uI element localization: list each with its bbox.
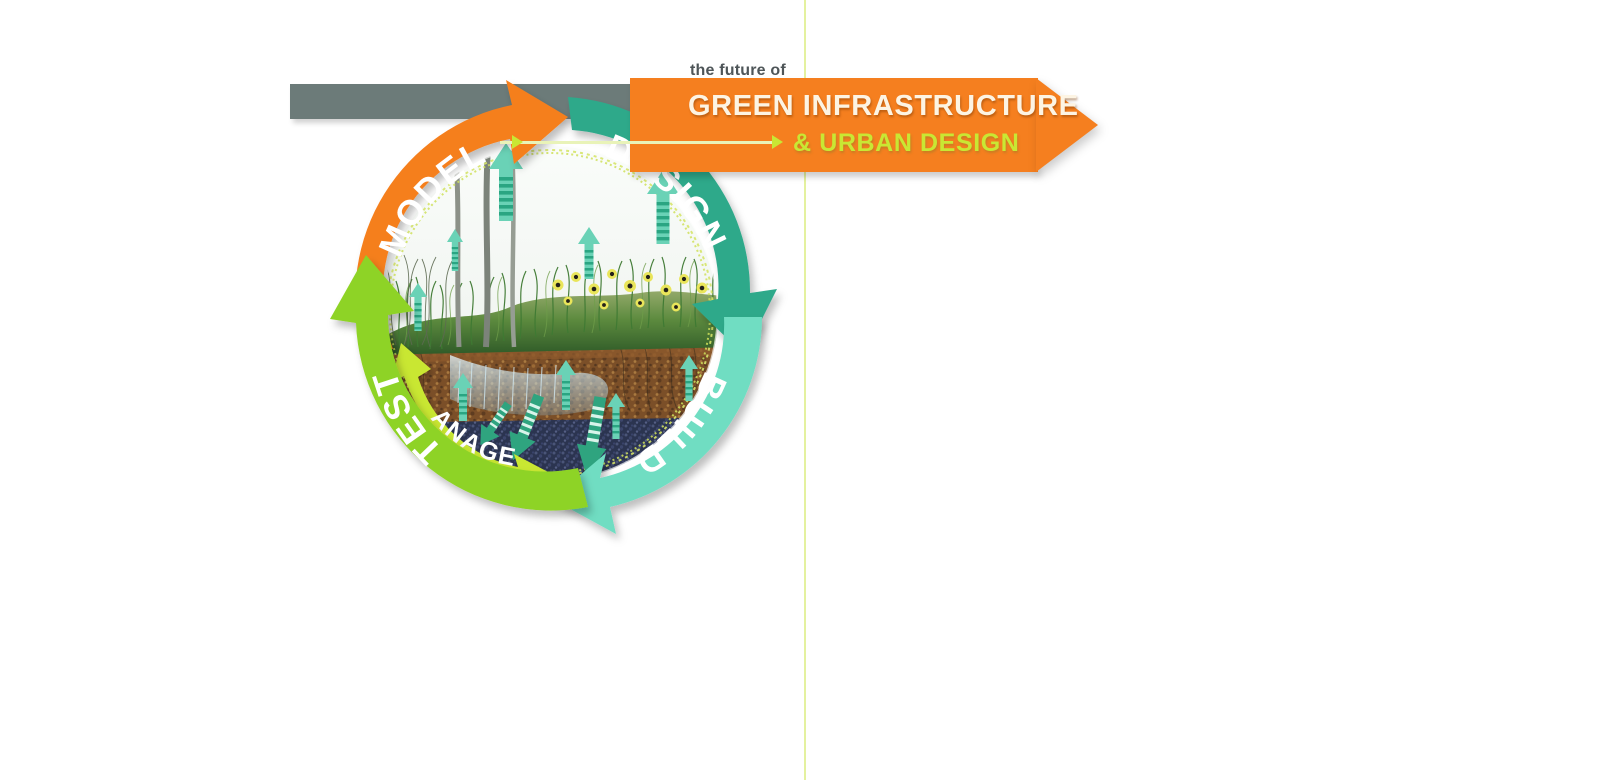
poster-canvas: MANAGE MODEL DESIGN BUILD [0,0,1600,780]
banner-subline: & URBAN DESIGN [793,129,1019,158]
lime-arrowhead-right-icon [772,135,783,149]
banner-eyebrow: the future of [690,62,786,80]
banner-headline: GREEN INFRASTRUCTURE [688,90,1079,123]
lime-rule-left [500,141,772,144]
lime-arrowhead-left-icon [512,135,523,149]
